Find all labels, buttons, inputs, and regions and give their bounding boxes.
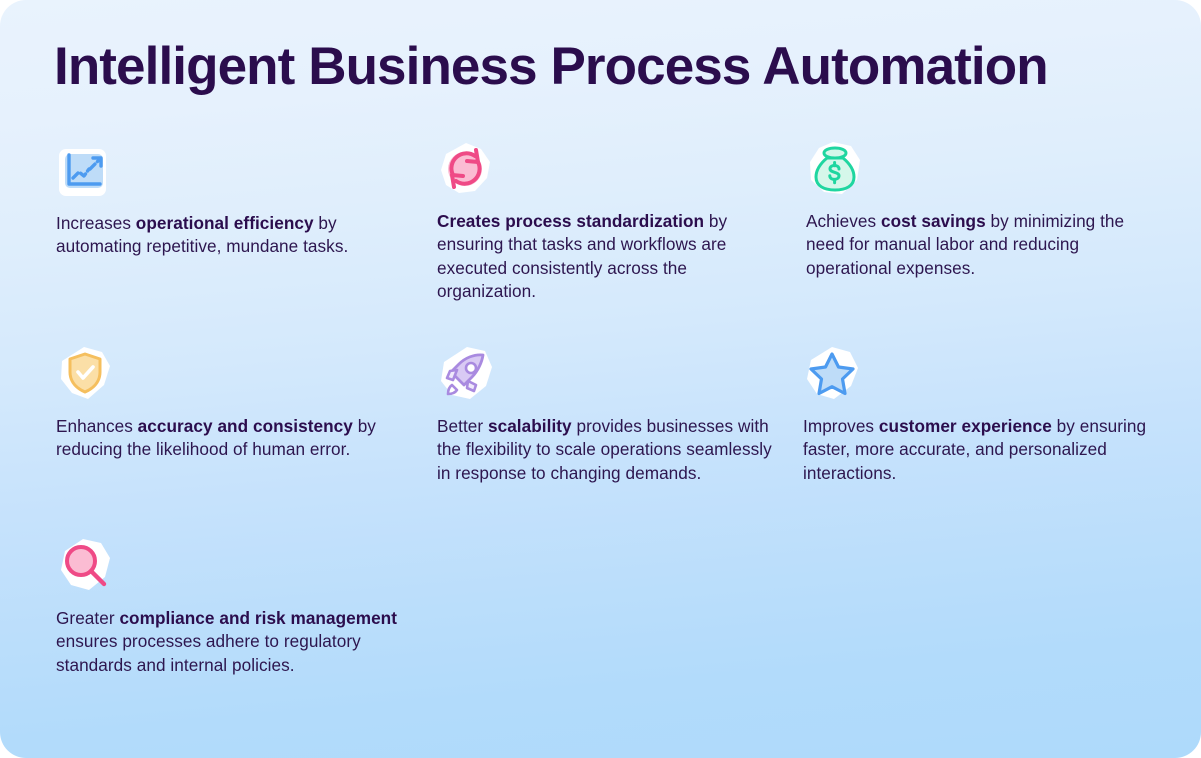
benefit-text-2: Creates process standardization by ensur… <box>437 210 777 304</box>
benefit-card-2: Creates process standardization by ensur… <box>437 140 777 304</box>
benefit-lead-3: Achieves <box>806 211 881 231</box>
refresh-cycle-icon <box>437 140 495 198</box>
benefit-highlight-5: scalability <box>488 416 572 436</box>
benefit-lead-4: Enhances <box>56 416 138 436</box>
benefit-rest-7: ensures processes adhere to regulatory s… <box>56 631 361 674</box>
benefit-lead-1: Increases <box>56 213 136 233</box>
magnifier-icon <box>56 537 114 595</box>
benefit-highlight-7: compliance and risk management <box>119 608 397 628</box>
benefit-text-6: Improves customer experience by ensuring… <box>803 415 1148 485</box>
money-bag-icon <box>806 140 864 198</box>
benefit-highlight-3: cost savings <box>881 211 986 231</box>
growth-chart-icon <box>56 142 114 200</box>
benefit-highlight-2: Creates process standardization <box>437 211 704 231</box>
benefit-text-5: Better scalability provides businesses w… <box>437 415 782 485</box>
benefit-card-6: Improves customer experience by ensuring… <box>803 345 1148 485</box>
infographic-poster: Intelligent Business Process Automation … <box>0 0 1201 758</box>
benefit-text-4: Enhances accuracy and consistency by red… <box>56 415 411 462</box>
benefit-card-1: Increases operational efficiency by auto… <box>56 142 401 259</box>
benefit-card-7: Greater compliance and risk management e… <box>56 537 436 677</box>
benefit-text-1: Increases operational efficiency by auto… <box>56 212 401 259</box>
benefit-highlight-6: customer experience <box>879 416 1052 436</box>
page-title: Intelligent Business Process Automation <box>54 34 1154 100</box>
rocket-icon <box>437 345 495 403</box>
benefit-lead-5: Better <box>437 416 488 436</box>
benefit-card-5: Better scalability provides businesses w… <box>437 345 782 485</box>
shield-check-icon <box>56 345 114 403</box>
benefit-lead-7: Greater <box>56 608 119 628</box>
benefit-text-3: Achieves cost savings by minimizing the … <box>806 210 1151 280</box>
benefit-highlight-4: accuracy and consistency <box>138 416 353 436</box>
benefit-highlight-1: operational efficiency <box>136 213 314 233</box>
benefit-card-4: Enhances accuracy and consistency by red… <box>56 345 411 462</box>
star-icon <box>803 345 861 403</box>
benefit-card-3: Achieves cost savings by minimizing the … <box>806 140 1151 280</box>
benefit-text-7: Greater compliance and risk management e… <box>56 607 436 677</box>
benefit-lead-6: Improves <box>803 416 879 436</box>
